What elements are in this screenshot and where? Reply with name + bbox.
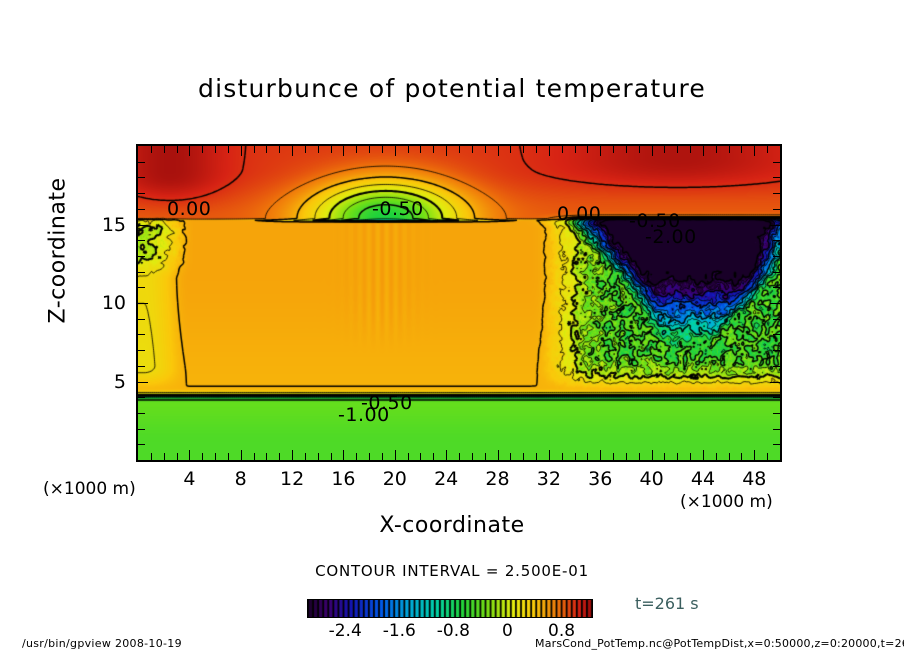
x-tick	[177, 453, 178, 460]
footer-dataset-label: MarsCond_PotTemp.nc@PotTempDist,x=0:5000…	[535, 637, 904, 650]
y-tick	[138, 303, 148, 304]
x-tick	[498, 450, 499, 460]
page-title: disturbunce of potential temperature	[0, 74, 904, 103]
y-tick-label: 15	[86, 214, 126, 236]
y-tick	[138, 366, 145, 367]
x-tick-label: 4	[167, 468, 211, 490]
y-tick	[138, 209, 145, 210]
x-tick	[562, 453, 563, 460]
contour-field-canvas	[138, 146, 780, 460]
x-tick	[652, 450, 653, 460]
contour-interval-label: CONTOUR INTERVAL = 2.500E-01	[0, 562, 904, 580]
y-tick-right	[773, 162, 780, 163]
y-tick-right	[773, 193, 780, 194]
x-tick	[485, 453, 486, 460]
y-tick	[138, 429, 145, 430]
y-tick	[138, 382, 148, 383]
x-tick-label: 20	[373, 468, 417, 490]
y-tick	[138, 413, 145, 414]
y-tick-right	[773, 366, 780, 367]
x-tick-top	[626, 146, 627, 153]
x-tick-top	[587, 146, 588, 153]
x-tick-top	[600, 146, 601, 156]
x-tick	[459, 453, 460, 460]
x-tick-top	[241, 146, 242, 156]
x-tick-top	[536, 146, 537, 153]
x-tick	[164, 453, 165, 460]
x-tick-top	[510, 146, 511, 153]
x-tick	[331, 453, 332, 460]
x-tick-top	[266, 146, 267, 153]
y-tick	[138, 350, 145, 351]
y-tick-right	[773, 429, 780, 430]
x-tick-top	[164, 146, 165, 153]
x-tick-top	[459, 146, 460, 153]
y-tick	[138, 319, 145, 320]
x-tick-label: 24	[424, 468, 468, 490]
x-tick-label: 28	[476, 468, 520, 490]
colorbar-tick-label: -0.8	[423, 621, 483, 641]
x-tick	[343, 450, 344, 460]
x-tick	[690, 453, 691, 460]
x-tick	[189, 450, 190, 460]
x-tick	[228, 453, 229, 460]
x-tick-top	[369, 146, 370, 153]
x-tick	[382, 453, 383, 460]
x-tick-top	[472, 146, 473, 153]
x-tick	[254, 453, 255, 460]
x-tick	[472, 453, 473, 460]
y-tick-right	[773, 240, 780, 241]
x-tick-top	[523, 146, 524, 153]
x-tick-top	[382, 146, 383, 153]
y-tick-right	[773, 272, 780, 273]
x-tick-top	[189, 146, 190, 156]
x-tick-top	[562, 146, 563, 153]
x-tick-label: 36	[578, 468, 622, 490]
y-tick	[138, 287, 145, 288]
x-tick	[305, 453, 306, 460]
x-tick	[741, 453, 742, 460]
x-tick	[536, 453, 537, 460]
y-tick	[138, 444, 145, 445]
x-tick	[549, 450, 550, 460]
x-tick-top	[318, 146, 319, 153]
y-tick	[138, 240, 145, 241]
y-tick-right	[773, 413, 780, 414]
colorbar-canvas	[308, 600, 592, 617]
y-tick-right	[773, 256, 780, 257]
x-tick-top	[690, 146, 691, 153]
x-tick	[626, 453, 627, 460]
x-tick-top	[729, 146, 730, 153]
x-tick-label: 16	[321, 468, 365, 490]
x-tick	[279, 453, 280, 460]
y-tick-right	[770, 303, 780, 304]
x-tick-label: 12	[270, 468, 314, 490]
y-tick-right	[773, 209, 780, 210]
x-tick-top	[433, 146, 434, 153]
x-tick-label: 32	[527, 468, 571, 490]
x-tick	[356, 453, 357, 460]
x-tick	[767, 453, 768, 460]
x-tick-top	[151, 146, 152, 153]
colorbar-tick-label: -1.6	[369, 621, 429, 641]
y-tick	[138, 397, 145, 398]
x-tick	[318, 453, 319, 460]
x-tick-label: 40	[630, 468, 674, 490]
y-tick	[138, 272, 145, 273]
x-tick-top	[420, 146, 421, 153]
x-tick-top	[228, 146, 229, 153]
contour-label: 0.00	[167, 198, 211, 220]
colorbar	[307, 599, 593, 618]
x-tick	[395, 450, 396, 460]
x-tick-top	[202, 146, 203, 153]
x-tick-top	[485, 146, 486, 153]
x-tick-top	[215, 146, 216, 153]
x-tick-label: 44	[681, 468, 725, 490]
x-tick-top	[741, 146, 742, 153]
x-tick-top	[664, 146, 665, 153]
y-tick-right	[773, 177, 780, 178]
x-tick-top	[395, 146, 396, 156]
y-tick-right	[773, 334, 780, 335]
x-tick	[292, 450, 293, 460]
y-tick-right	[773, 397, 780, 398]
x-tick-top	[331, 146, 332, 153]
y-tick	[138, 162, 145, 163]
x-tick	[241, 450, 242, 460]
x-tick-top	[754, 146, 755, 156]
contour-label: -1.00	[338, 404, 390, 426]
x-tick	[433, 453, 434, 460]
x-tick-top	[177, 146, 178, 153]
x-tick	[510, 453, 511, 460]
x-tick-top	[652, 146, 653, 156]
x-tick	[420, 453, 421, 460]
y-tick-right	[773, 319, 780, 320]
footer-command-label: /usr/bin/gpview 2008-10-19	[22, 637, 182, 650]
x-tick	[600, 450, 601, 460]
x-unit-label: (×1000 m)	[680, 492, 773, 512]
x-tick-label: 8	[219, 468, 263, 490]
x-tick	[587, 453, 588, 460]
x-tick-top	[498, 146, 499, 156]
x-tick-top	[279, 146, 280, 153]
x-tick	[523, 453, 524, 460]
z-unit-label: (×1000 m)	[43, 479, 136, 499]
x-tick-top	[639, 146, 640, 153]
y-tick-label: 5	[86, 371, 126, 393]
y-tick	[138, 193, 145, 194]
x-tick-top	[446, 146, 447, 156]
x-tick	[202, 453, 203, 460]
x-tick-top	[767, 146, 768, 153]
x-tick	[446, 450, 447, 460]
x-tick	[639, 453, 640, 460]
y-tick	[138, 334, 145, 335]
x-tick	[408, 453, 409, 460]
y-tick	[138, 177, 145, 178]
x-tick-top	[292, 146, 293, 156]
contour-label: -0.50	[372, 198, 424, 220]
x-tick	[754, 450, 755, 460]
x-axis-label: X-coordinate	[0, 513, 904, 538]
y-tick-right	[773, 287, 780, 288]
x-tick	[613, 453, 614, 460]
contour-label: 0.00	[557, 203, 601, 225]
time-annotation: t=261 s	[635, 594, 699, 613]
y-tick	[138, 256, 145, 257]
x-tick	[716, 453, 717, 460]
y-tick	[138, 225, 148, 226]
x-tick	[677, 453, 678, 460]
y-tick-right	[770, 382, 780, 383]
x-tick	[729, 453, 730, 460]
x-tick	[575, 453, 576, 460]
x-tick	[703, 450, 704, 460]
x-tick-top	[703, 146, 704, 156]
x-tick-top	[305, 146, 306, 153]
x-tick-top	[716, 146, 717, 153]
colorbar-tick-label: -2.4	[315, 621, 375, 641]
x-tick-top	[356, 146, 357, 153]
x-tick-top	[408, 146, 409, 153]
x-tick	[151, 453, 152, 460]
x-tick-label: 48	[732, 468, 776, 490]
x-tick	[664, 453, 665, 460]
x-tick	[266, 453, 267, 460]
x-tick	[369, 453, 370, 460]
x-tick-top	[677, 146, 678, 153]
x-tick	[215, 453, 216, 460]
x-tick-top	[549, 146, 550, 156]
y-axis-label: Z-coordinate	[46, 151, 71, 351]
y-tick-right	[770, 225, 780, 226]
y-tick-right	[773, 444, 780, 445]
x-tick-top	[343, 146, 344, 156]
y-tick-right	[773, 350, 780, 351]
y-tick-label: 10	[86, 292, 126, 314]
x-tick-top	[613, 146, 614, 153]
contour-label: -2.00	[645, 226, 697, 248]
x-tick-top	[575, 146, 576, 153]
colorbar-tick-label: 0	[477, 621, 537, 641]
x-tick-top	[254, 146, 255, 153]
plot-area	[136, 144, 782, 462]
